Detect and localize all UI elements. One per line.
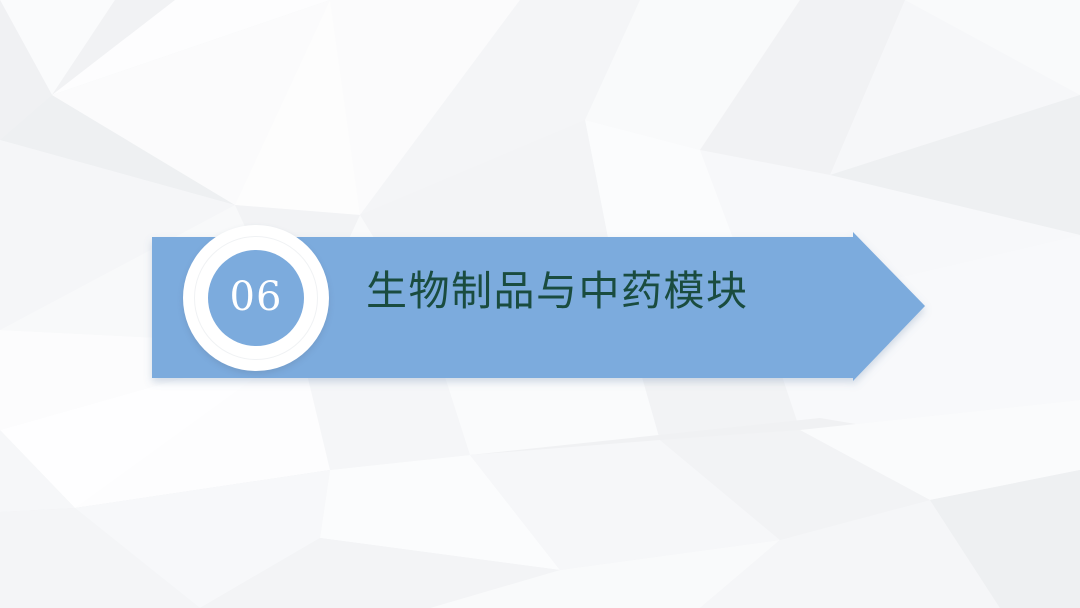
section-title: 生物制品与中药模块 xyxy=(366,262,826,320)
badge-number-text: 06 xyxy=(230,277,283,317)
slide-canvas: 生物制品与中药模块 06 xyxy=(0,0,1080,608)
badge-core-disc: 06 xyxy=(208,250,304,346)
section-number-badge: 06 xyxy=(183,225,329,371)
